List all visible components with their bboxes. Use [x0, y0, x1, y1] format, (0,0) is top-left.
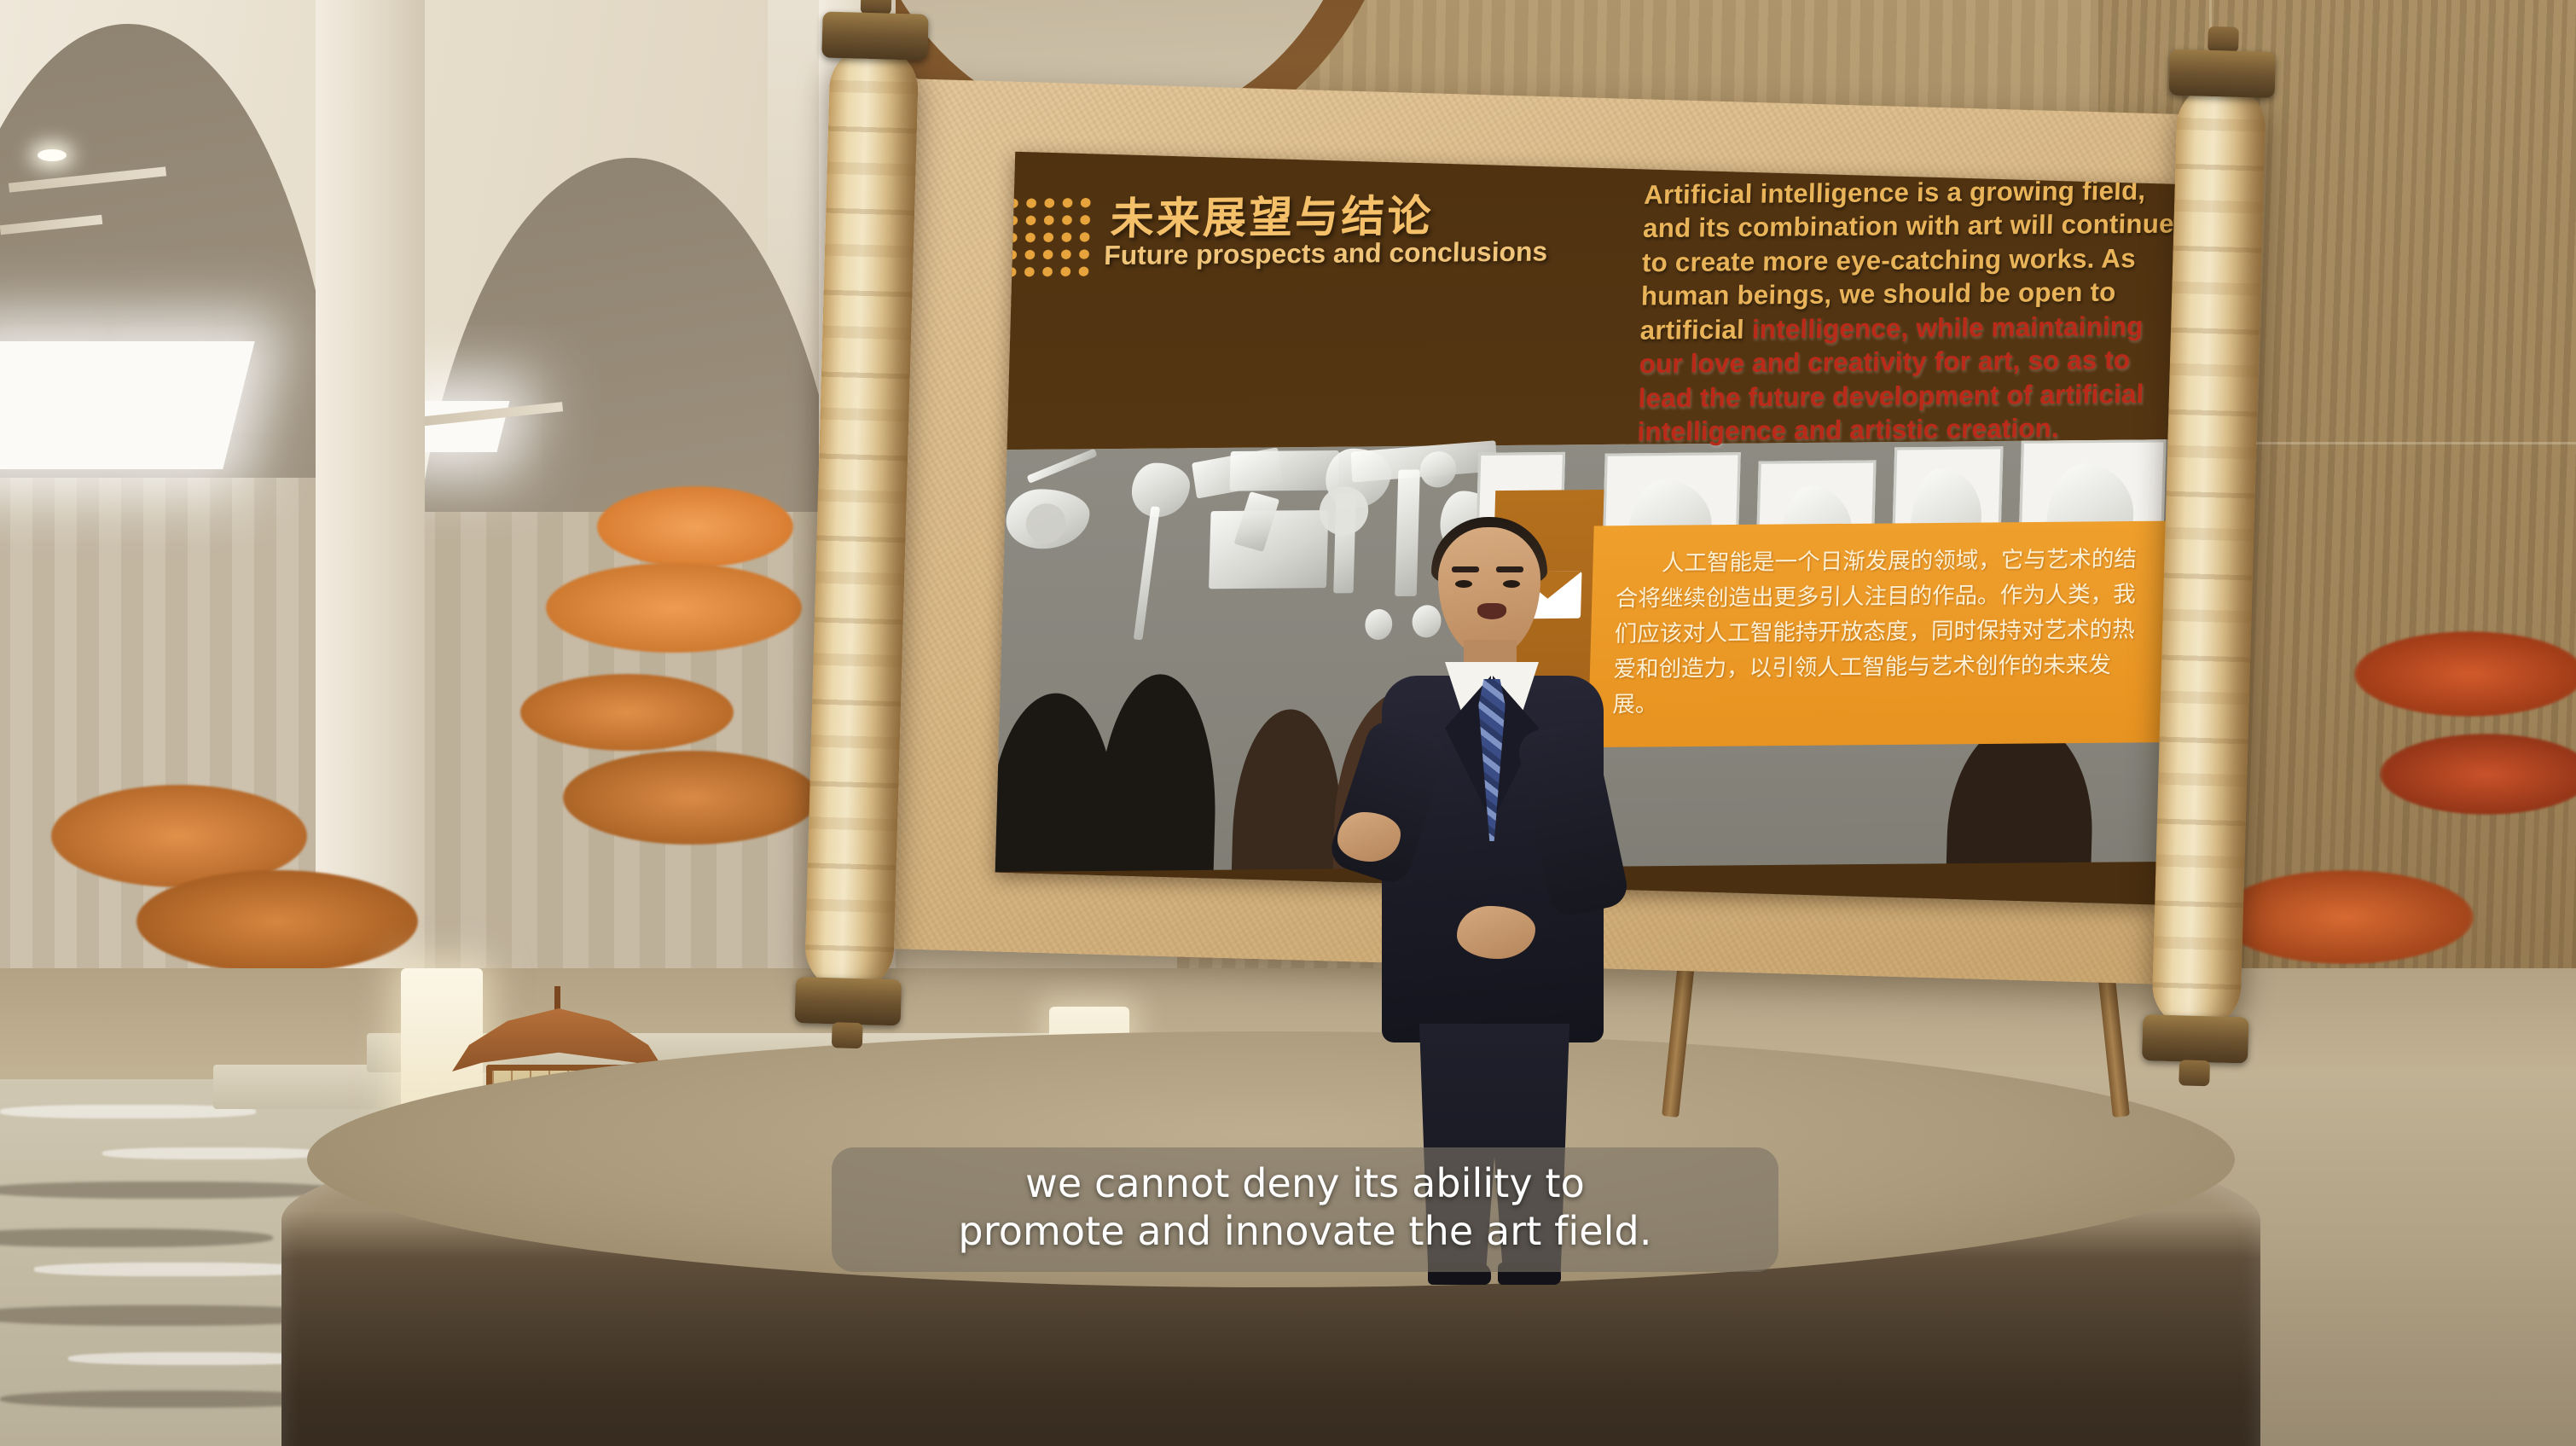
roller-knob-bottom [832, 1022, 863, 1048]
foliage-left-4 [563, 751, 819, 845]
collage-object [1419, 451, 1457, 488]
roller-cap-top [821, 11, 928, 60]
presenter-brow [1496, 566, 1523, 572]
presenter-eye [1455, 580, 1472, 588]
roller-cap-bottom [795, 977, 902, 1025]
collage-object [1027, 449, 1098, 484]
water-reflection [0, 1228, 273, 1247]
presenter-eye [1503, 580, 1520, 588]
foliage-left-2 [546, 563, 802, 653]
slide-chinese-paragraph: 人工智能是一个日渐发展的领域，它与艺术的结合将继续创造出更多引人注目的作品。作为… [1612, 541, 2154, 722]
scene-root: 未来展望与结论 Future prospects and conclusions… [0, 0, 2576, 1446]
collage-object [1131, 462, 1191, 517]
roller-knob-bottom [2179, 1060, 2210, 1086]
water-ripple [102, 1147, 324, 1159]
subtitle-caption-box: we cannot deny its ability to promote an… [832, 1147, 1778, 1272]
dot-grid-icon [1002, 195, 1094, 278]
foliage-left-6 [136, 870, 418, 973]
slide-title-en: Future prospects and conclusions [1104, 237, 1548, 272]
presenter-head [1438, 527, 1540, 655]
foliage-left-1 [597, 486, 793, 567]
presenter-brow [1452, 566, 1479, 572]
collage-object [1134, 506, 1160, 640]
slide-english-paragraph: Artificial intelligence is a growing fie… [1637, 174, 2179, 450]
ceiling-spotlight [38, 149, 67, 161]
roller-knob-top [2208, 26, 2239, 53]
roller-cap-bottom [2142, 1014, 2248, 1063]
lantern-roof [452, 1008, 665, 1071]
foliage-right-3 [2218, 870, 2474, 964]
caption-line-1: we cannot deny its ability to [857, 1159, 1753, 1207]
caption-line-2: promote and innovate the art field. [857, 1207, 1753, 1255]
slide-title-cn: 未来展望与结论 [1110, 180, 1435, 246]
presenter-figure [1356, 512, 1629, 1186]
slide-chinese-textbox: 人工智能是一个日渐发展的领域，它与艺术的结合将继续创造出更多引人注目的作品。作为… [1587, 521, 2177, 748]
foliage-right-1 [2354, 631, 2576, 717]
water-reflection [0, 1182, 341, 1199]
water-ripple [34, 1263, 316, 1276]
foliage-left-3 [520, 674, 734, 751]
arch-pillar-center [316, 0, 425, 1007]
skylight-left [0, 341, 255, 469]
presenter-mouth [1477, 603, 1506, 619]
collage-object [1229, 450, 1339, 491]
roller-cap-top [2169, 49, 2276, 98]
